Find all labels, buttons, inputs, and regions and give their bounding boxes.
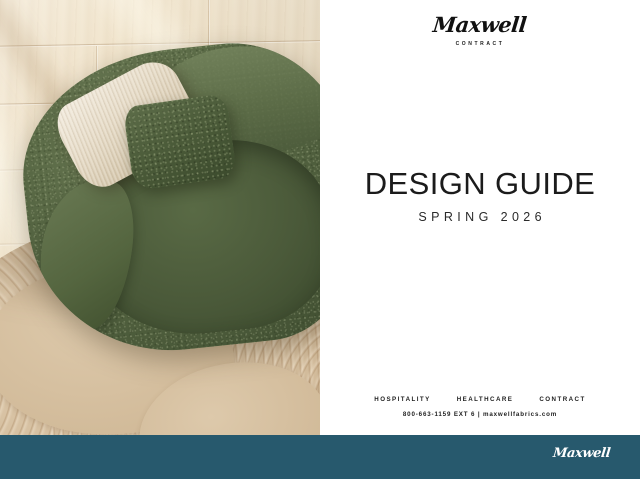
segment-healthcare: HEALTHCARE — [457, 396, 514, 403]
brand-division-label: CONTRACT — [320, 41, 640, 47]
cover-page: Maxwell CONTRACT DESIGN GUIDE SPRING 202… — [0, 0, 640, 479]
green-throw-pillow — [123, 93, 238, 191]
brand-logo: Maxwell CONTRACT — [320, 14, 640, 47]
cover-text-panel: Maxwell CONTRACT DESIGN GUIDE SPRING 202… — [320, 0, 640, 435]
cover-photograph — [0, 0, 320, 435]
page-title: DESIGN GUIDE — [320, 168, 640, 201]
brand-wordmark: Maxwell — [432, 14, 527, 35]
footer-teal-bar: Maxwell — [0, 435, 640, 479]
floor-plank-seam — [208, 0, 209, 46]
footer-brand-wordmark: Maxwell — [552, 447, 610, 460]
contact-info: 800-663-1159 EXT 6 | maxwellfabrics.com — [320, 411, 640, 418]
pillow-weave-texture — [123, 93, 238, 191]
cover-footer: HOSPITALITY HEALTHCARE CONTRACT 800-663-… — [320, 396, 640, 418]
cover-title-block: DESIGN GUIDE SPRING 2026 — [320, 168, 640, 224]
segment-contract: CONTRACT — [539, 396, 585, 403]
page-subtitle: SPRING 2026 — [320, 210, 640, 224]
market-segment-list: HOSPITALITY HEALTHCARE CONTRACT — [320, 396, 640, 403]
segment-hospitality: HOSPITALITY — [374, 396, 430, 403]
